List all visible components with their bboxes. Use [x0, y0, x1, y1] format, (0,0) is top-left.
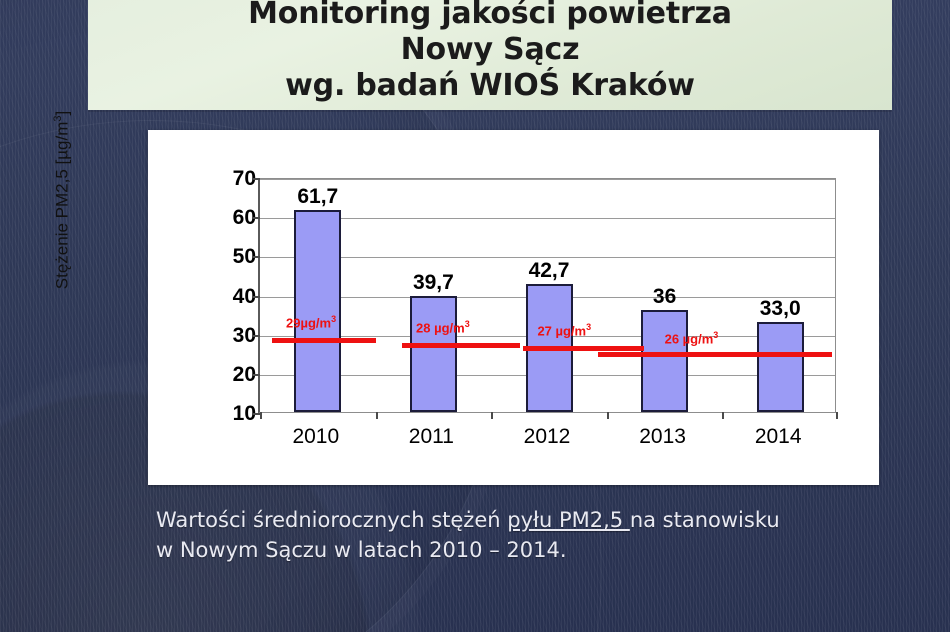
y-axis-title: Stężenie PM2,5 [µg/m3] [52, 90, 72, 310]
bar-value-label-2011: 39,7 [388, 271, 478, 295]
y-axis-tick [253, 256, 260, 258]
caption-line-2: w Nowym Sączu w latach 2010 – 2014. [156, 538, 567, 562]
slide-canvas: Monitoring jakości powietrza Nowy Sącz w… [0, 0, 950, 632]
limit-label-sup: 3 [586, 322, 591, 332]
y-axis-tick-label: 20 [212, 364, 256, 385]
limit-label-3: 26 µg/m3 [665, 330, 719, 346]
chart-plot-wrapper: Stężenie PM2,5 [µg/m3] 70605040302010 61… [148, 130, 879, 485]
caption-part-1: Wartości średniorocznych stężeń [156, 508, 507, 532]
y-axis-tick [253, 296, 260, 298]
x-axis-tick [376, 412, 378, 419]
y-axis-tick [253, 374, 260, 376]
y-axis-tick-label: 10 [212, 403, 256, 424]
plot-area: 61,739,742,73633,029µg/m328 µg/m327 µg/m… [258, 178, 836, 413]
y-axis-tick-label: 30 [212, 325, 256, 346]
limit-label-sup: 3 [465, 319, 470, 329]
x-axis-tick [607, 412, 609, 419]
y-axis-title-text: Stężenie PM2,5 [µg/m [53, 122, 72, 290]
limit-label-0: 29µg/m3 [286, 314, 336, 330]
limit-line-0 [272, 338, 376, 343]
title-line-3: wg. badań WIOŚ Kraków [285, 68, 695, 104]
gridline [260, 179, 835, 180]
y-axis-tick [253, 413, 260, 415]
chart-card: Stężenie PM2,5 [µg/m3] 70605040302010 61… [148, 130, 879, 485]
bar-value-label-2010: 61,7 [273, 185, 363, 209]
limit-label-sup: 3 [713, 330, 718, 340]
x-axis-label-2012: 2012 [497, 425, 597, 449]
bar-value-label-2013: 36 [620, 285, 710, 309]
limit-label-1: 28 µg/m3 [416, 319, 470, 335]
x-axis-label-2013: 2013 [613, 425, 713, 449]
y-axis-tick [253, 217, 260, 219]
bar-2013 [641, 310, 688, 412]
y-axis-tick-label: 70 [212, 168, 256, 189]
title-line-1: Monitoring jakości powietrza [248, 0, 732, 32]
limit-line-1 [402, 343, 520, 348]
bar-value-label-2012: 42,7 [504, 259, 594, 283]
caption-part-2: na stanowisku [630, 508, 780, 532]
limit-label-text: 27 µg/m [537, 323, 586, 338]
slide-caption: Wartości średniorocznych stężeń pyłu PM2… [156, 505, 876, 565]
y-axis-title-sup: 3 [52, 116, 64, 122]
x-axis-tick [836, 412, 838, 419]
limit-label-text: 28 µg/m [416, 320, 465, 335]
y-axis-tick [253, 178, 260, 180]
x-axis-tick [722, 412, 724, 419]
y-axis-tick-label: 40 [212, 286, 256, 307]
bar-2010 [294, 210, 341, 412]
y-axis-tick [253, 335, 260, 337]
corner-decoration-icon [904, 612, 938, 632]
x-axis-label-2014: 2014 [728, 425, 828, 449]
limit-label-sup: 3 [331, 314, 336, 324]
y-axis-title-close: ] [53, 111, 72, 116]
bar-2014 [757, 322, 804, 412]
limit-label-2: 27 µg/m3 [537, 322, 591, 338]
limit-line-3 [598, 352, 832, 357]
limit-label-text: 26 µg/m [665, 332, 714, 347]
title-line-2: Nowy Sącz [401, 32, 580, 68]
x-axis-tick [260, 412, 262, 419]
bar-value-label-2014: 33,0 [735, 297, 825, 321]
x-axis-label-2010: 2010 [266, 425, 366, 449]
slide-title-plate: Monitoring jakości powietrza Nowy Sącz w… [88, 0, 892, 110]
x-axis-label-2011: 2011 [381, 425, 481, 449]
y-axis-tick-label: 50 [212, 246, 256, 267]
y-axis-tick-labels: 70605040302010 [208, 130, 256, 485]
y-axis-tick-label: 60 [212, 207, 256, 228]
limit-line-2 [523, 346, 644, 351]
x-axis-tick [491, 412, 493, 419]
limit-label-text: 29µg/m [286, 316, 331, 331]
caption-underlined-term: pyłu PM2,5 [507, 508, 630, 532]
bar-2011 [410, 296, 457, 412]
gridline [260, 218, 835, 219]
